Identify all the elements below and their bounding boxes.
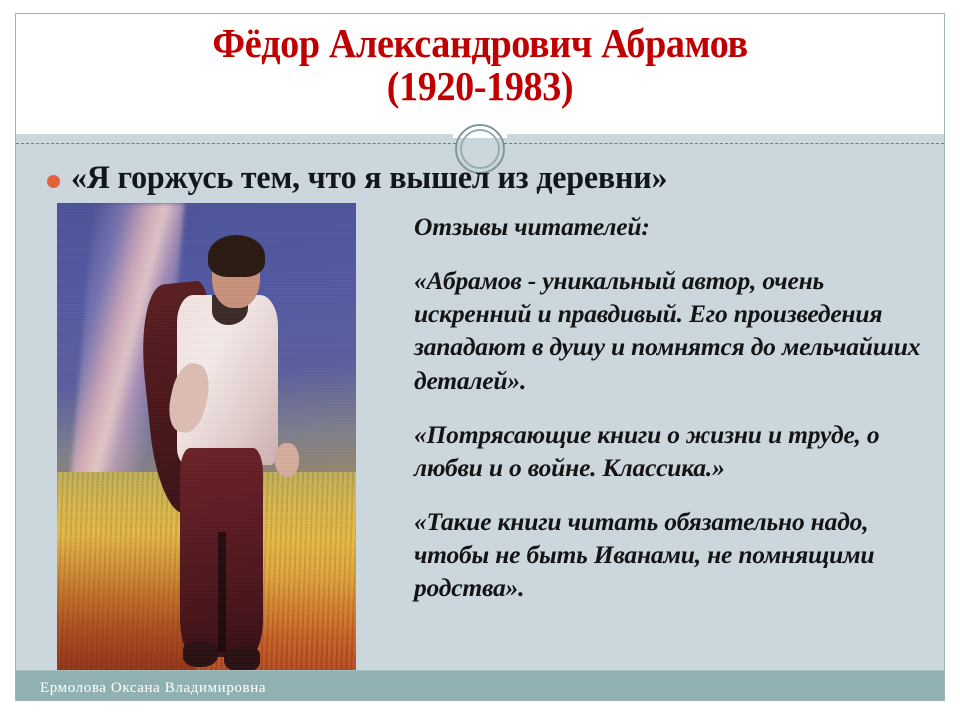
subtitle-text: «Я горжусь тем, что я вышел из деревни» [71,160,667,197]
header-divider [16,134,944,154]
subtitle-row: «Я горжусь тем, что я вышел из деревни» [16,160,944,202]
review-item: «Абрамов - уникальный автор, очень искре… [414,264,934,397]
figure-shoe-right [224,647,260,672]
figure-hair [208,235,265,277]
spacer [414,484,934,505]
author-caption: Ермолова Оксана Владимировна [40,680,266,697]
review-item: «Такие книги читать обязательно надо, чт… [414,505,934,604]
title-line-1: Фёдор Александрович Абрамов [48,22,911,65]
spacer [414,397,934,418]
divider-line-left [16,143,456,144]
portrait-photo [57,203,356,701]
spacer [414,243,934,264]
figure-hand [275,443,299,478]
figure-leg-separation [218,532,225,652]
reviews-heading: Отзывы читателей: [414,210,934,243]
page-title: Фёдор Александрович Абрамов (1920-1983) [16,22,944,109]
review-item: «Потрясающие книги о жизни и труде, о лю… [414,418,934,484]
figure-shoe-left [183,642,219,667]
divider-line-right [504,143,944,144]
reviews-column: Отзывы читателей: «Абрамов - уникальный … [414,210,934,604]
bullet-icon [47,175,60,188]
title-line-2: (1920-1983) [48,65,911,108]
presentation-slide: Фёдор Александрович Абрамов (1920-1983) … [15,13,945,701]
slide-header: Фёдор Александрович Абрамов (1920-1983) [16,14,944,134]
